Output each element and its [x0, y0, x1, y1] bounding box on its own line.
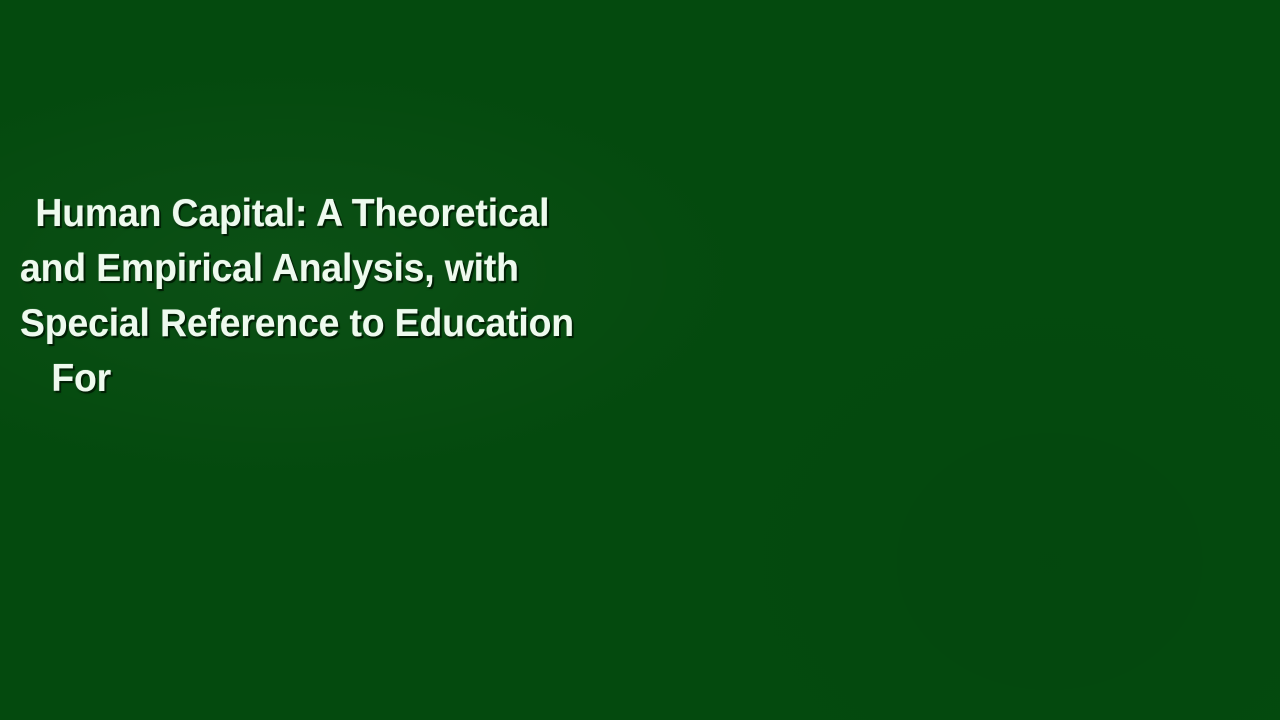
title-card-canvas: Human Capital: A Theoretical and Empiric… — [0, 0, 1280, 720]
title-line-2: and Empirical Analysis, with — [20, 241, 775, 296]
title-line-4: For — [20, 351, 775, 406]
title-line-3: Special Reference to Education — [20, 296, 775, 351]
book-title: Human Capital: A Theoretical and Empiric… — [0, 186, 820, 406]
title-line-1: Human Capital: A Theoretical — [20, 186, 775, 241]
